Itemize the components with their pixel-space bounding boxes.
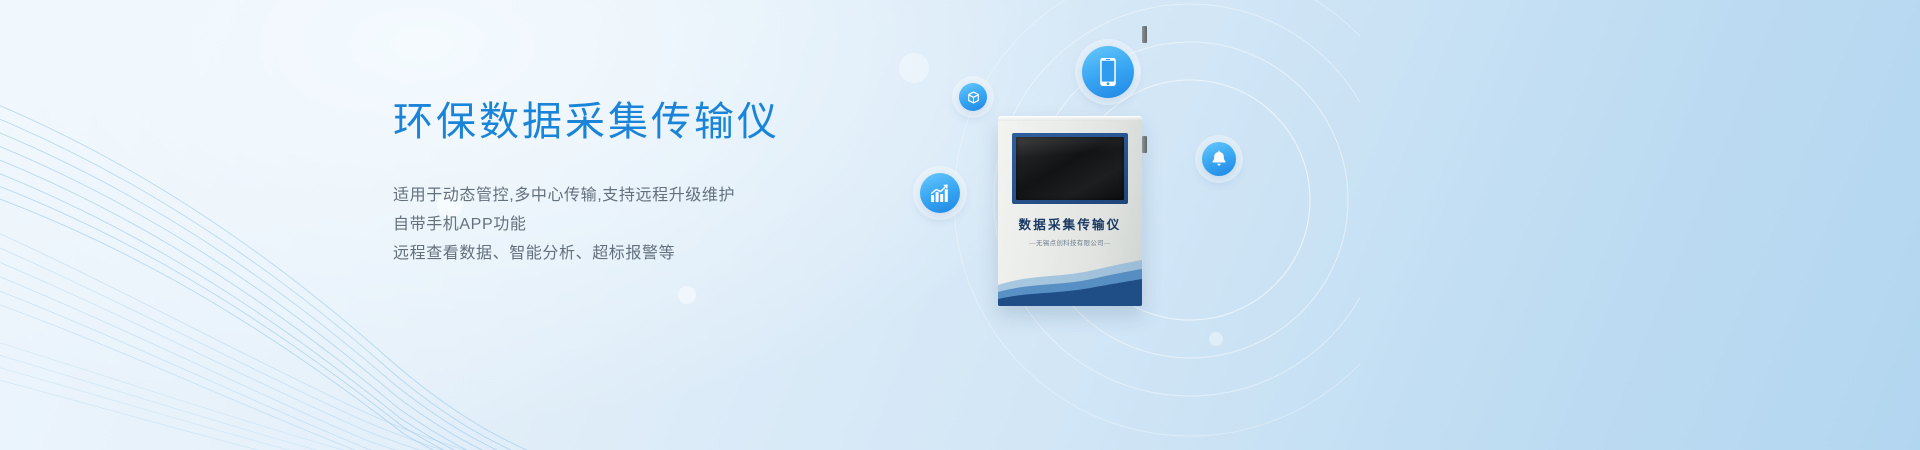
cabinet-screen-bezel	[1012, 133, 1128, 204]
cabinet-wave-graphic	[998, 258, 1142, 306]
cabinet-label-company: —无锡点创科技有限公司—	[998, 237, 1142, 247]
chart-icon[interactable]	[920, 173, 960, 213]
product-scene: 数据采集传输仪 —无锡点创科技有限公司—	[860, 0, 1360, 450]
alarm-icon[interactable]	[1202, 142, 1236, 176]
cabinet-screen	[1016, 137, 1124, 200]
data-acquisition-cabinet: 数据采集传输仪 —无锡点创科技有限公司—	[998, 116, 1142, 306]
hero-banner: 环保数据采集传输仪 适用于动态管控,多中心传输,支持远程升级维护 自带手机APP…	[0, 0, 1920, 450]
cabinet-hinge	[1142, 136, 1147, 153]
cabinet-label-main: 数据采集传输仪	[998, 214, 1142, 233]
cube-icon[interactable]	[959, 83, 987, 111]
cabinet-nameplate: 数据采集传输仪 —无锡点创科技有限公司—	[998, 214, 1142, 247]
cabinet-hinge	[1142, 26, 1147, 43]
cabinet-top-highlight	[998, 116, 1142, 121]
bokeh-dot	[678, 286, 696, 304]
phone-icon[interactable]	[1082, 46, 1134, 98]
